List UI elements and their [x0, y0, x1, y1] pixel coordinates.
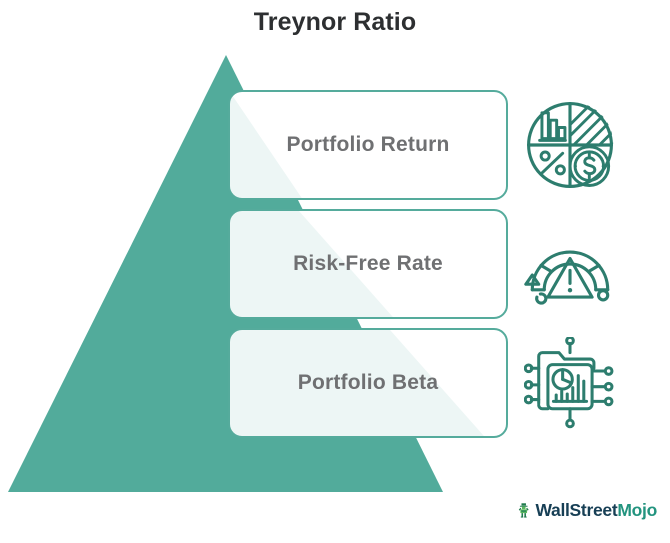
brand-logo[interactable]: WallStreetMojo — [517, 489, 657, 531]
percent-quadrant — [541, 152, 564, 174]
wallstreetmojo-mascot-icon — [517, 492, 530, 528]
pyramid-row-portfolio-beta[interactable]: Portfolio Beta — [228, 328, 508, 438]
row-label: Portfolio Return — [286, 133, 449, 157]
analytics-chip-icon — [524, 337, 616, 429]
row-label: Portfolio Beta — [298, 371, 438, 395]
brand-wordmark: WallStreetMojo — [535, 500, 657, 521]
brand-word-primary: WallStreet — [535, 500, 617, 520]
dollar-coin-quadrant — [570, 147, 609, 186]
brand-word-secondary: Mojo — [617, 500, 657, 520]
pyramid-row-portfolio-return[interactable]: Portfolio Return — [228, 90, 508, 200]
risk-gauge-warning-icon — [524, 218, 616, 310]
bar-chart-quadrant — [540, 113, 566, 141]
infographic-canvas: Treynor Ratio Portfolio Return Risk-Free… — [0, 0, 670, 543]
pie-chart — [553, 370, 572, 389]
pie-chart-quadrants-icon — [524, 99, 616, 191]
pyramid-row-risk-free-rate[interactable]: Risk-Free Rate — [228, 209, 508, 319]
page-title: Treynor Ratio — [0, 8, 670, 37]
hatched-quadrant — [568, 99, 616, 151]
row-label: Risk-Free Rate — [293, 252, 443, 276]
